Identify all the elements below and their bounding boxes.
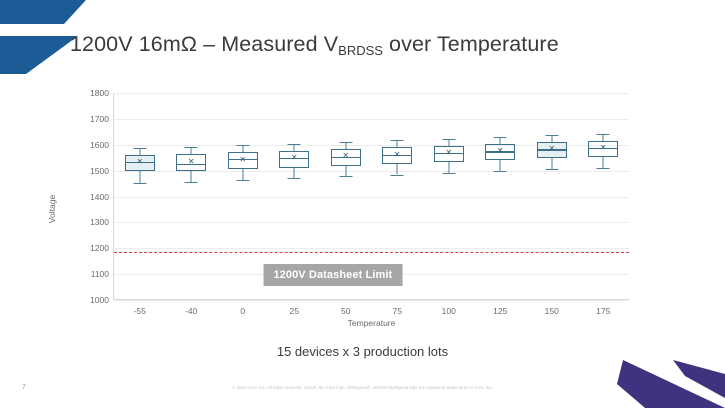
upper-whisker: [242, 145, 243, 152]
mean-marker-icon: ✕: [188, 158, 195, 166]
lower-whisker: [242, 169, 243, 180]
x-axis-tick-label: 75: [393, 306, 402, 316]
box-plot-item: ✕: [217, 93, 269, 300]
lower-whisker: [551, 158, 552, 169]
lower-whisker-cap: [494, 171, 507, 172]
mean-marker-icon: ✕: [600, 144, 607, 152]
box-plot-item: ✕: [166, 93, 218, 300]
x-axis-tick-label: 150: [545, 306, 559, 316]
title-subscript: BRDSS: [338, 43, 383, 58]
lower-whisker: [345, 166, 346, 177]
upper-whisker-cap: [494, 137, 507, 138]
upper-whisker-cap: [236, 145, 249, 146]
mean-marker-icon: ✕: [342, 152, 349, 160]
box-plot-chart: Voltage 10001100120013001400150016001700…: [60, 84, 640, 334]
upper-whisker-cap: [545, 135, 558, 136]
copyright-notice: © 2010 Cree, Inc. All rights reserved. C…: [0, 385, 725, 390]
x-axis-label: Temperature: [348, 318, 396, 328]
upper-whisker: [500, 137, 501, 144]
y-axis-tick-label: 1800: [90, 88, 109, 98]
lower-whisker: [448, 162, 449, 173]
title-prefix: 1200V 16mΩ – Measured V: [70, 32, 338, 56]
upper-whisker: [191, 147, 192, 154]
plot-region: 100011001200130014001500160017001800 ✕✕✕…: [113, 93, 629, 300]
box-plot-item: ✕: [526, 93, 578, 300]
lower-whisker-cap: [597, 168, 610, 169]
mean-marker-icon: ✕: [548, 145, 555, 153]
chevron-decoration-top-icon: [0, 0, 86, 24]
lower-whisker: [603, 157, 604, 168]
upper-whisker-cap: [442, 139, 455, 140]
y-axis-tick-label: 1300: [90, 217, 109, 227]
x-axis-tick-label: 175: [596, 306, 610, 316]
page-title: 1200V 16mΩ – Measured VBRDSS over Temper…: [70, 32, 559, 57]
upper-whisker: [139, 148, 140, 155]
gridline: [114, 300, 629, 301]
mean-marker-icon: ✕: [497, 147, 504, 155]
mean-marker-icon: ✕: [136, 158, 143, 166]
upper-whisker-cap: [597, 134, 610, 135]
x-axis-tick-label: -55: [134, 306, 146, 316]
upper-whisker-cap: [288, 144, 301, 145]
arrow-decoration-bottom-right-icon: [597, 354, 725, 408]
chevron-decoration-middle-icon: [0, 36, 78, 74]
lower-whisker-cap: [545, 169, 558, 170]
x-axis-line: [114, 299, 629, 300]
upper-whisker: [551, 135, 552, 142]
upper-whisker-cap: [339, 142, 352, 143]
mean-marker-icon: ✕: [394, 151, 401, 159]
mean-marker-icon: ✕: [239, 156, 246, 164]
lower-whisker: [397, 164, 398, 175]
x-axis-tick-label: 125: [493, 306, 507, 316]
lower-whisker: [294, 168, 295, 179]
mean-marker-icon: ✕: [445, 149, 452, 157]
box-plot-item: ✕: [114, 93, 166, 300]
upper-whisker-cap: [133, 148, 146, 149]
title-suffix: over Temperature: [383, 32, 559, 56]
lower-whisker: [500, 160, 501, 171]
x-axis-tick-label: 0: [240, 306, 245, 316]
lower-whisker-cap: [442, 173, 455, 174]
y-axis-tick-label: 1200: [90, 243, 109, 253]
upper-whisker: [448, 139, 449, 146]
x-axis-tick-label: 50: [341, 306, 350, 316]
datasheet-limit-label: 1200V Datasheet Limit: [263, 264, 402, 286]
box-plot-item: ✕: [423, 93, 475, 300]
upper-whisker-cap: [185, 147, 198, 148]
lower-whisker-cap: [391, 175, 404, 176]
lower-whisker-cap: [133, 183, 146, 184]
box-plot-item: ✕: [475, 93, 527, 300]
datasheet-limit-line: [114, 252, 629, 253]
x-axis-tick-label: 100: [442, 306, 456, 316]
y-axis-label: Voltage: [47, 195, 57, 223]
upper-whisker-cap: [391, 140, 404, 141]
upper-whisker: [294, 144, 295, 151]
lower-whisker-cap: [288, 178, 301, 179]
lower-whisker-cap: [185, 182, 198, 183]
slide-canvas: 1200V 16mΩ – Measured VBRDSS over Temper…: [0, 0, 725, 408]
chart-caption: 15 devices x 3 production lots: [0, 344, 725, 359]
x-axis-tick-label: -40: [185, 306, 197, 316]
upper-whisker: [603, 134, 604, 141]
y-axis-tick-label: 1500: [90, 166, 109, 176]
y-axis-tick-label: 1100: [91, 269, 109, 279]
upper-whisker: [397, 140, 398, 147]
lower-whisker: [191, 171, 192, 182]
lower-whisker-cap: [236, 180, 249, 181]
y-axis-tick-label: 1000: [90, 295, 109, 305]
lower-whisker-cap: [339, 176, 352, 177]
x-axis-tick-label: 25: [290, 306, 299, 316]
upper-whisker: [345, 142, 346, 149]
y-axis-tick-label: 1400: [90, 192, 109, 202]
box-plot-item: ✕: [578, 93, 630, 300]
y-axis-tick-label: 1700: [90, 114, 109, 124]
mean-marker-icon: ✕: [291, 154, 298, 162]
y-axis-tick-label: 1600: [90, 140, 109, 150]
lower-whisker: [139, 171, 140, 182]
